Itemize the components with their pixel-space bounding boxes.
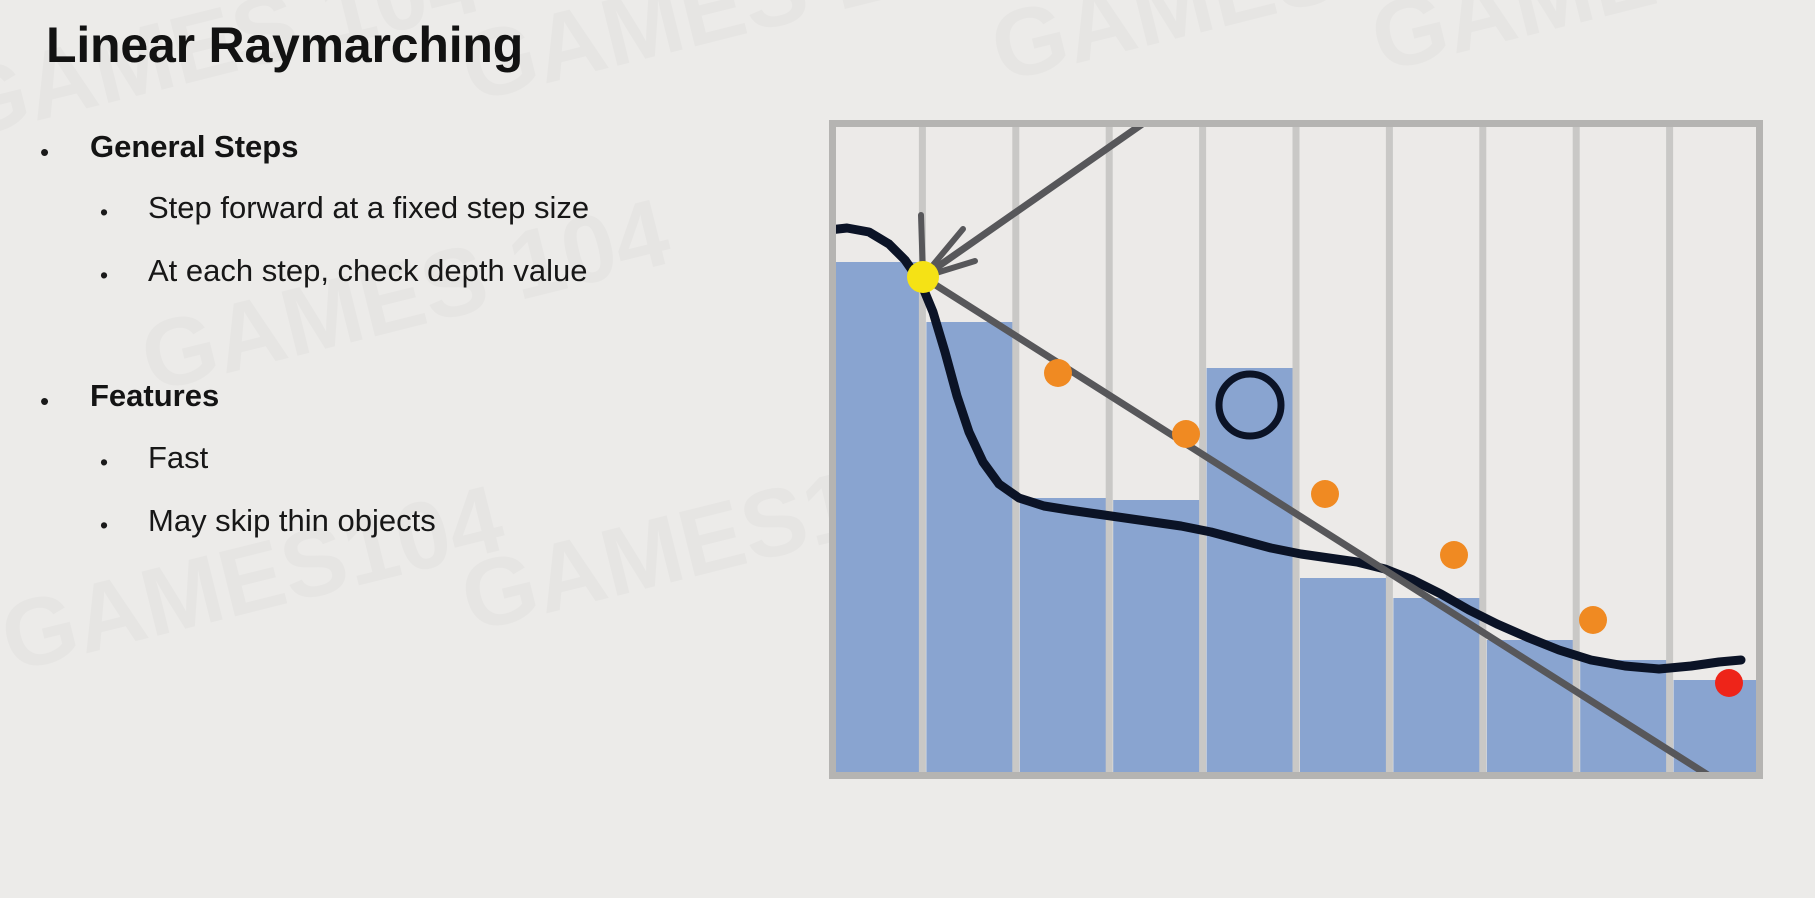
- bullet-marker-icon: •: [40, 130, 90, 165]
- bullet-marker-icon: •: [40, 379, 90, 414]
- step-sample-dot: [1579, 606, 1607, 634]
- bullet-label: Fast: [148, 441, 208, 475]
- bullet-item-check-depth: • At each step, check depth value: [40, 254, 830, 288]
- depth-bar: [1580, 660, 1666, 773]
- ray-hit-dot: [1715, 669, 1743, 697]
- bullet-item-step-forward: • Step forward at a fixed step size: [40, 191, 830, 225]
- raymarching-diagram: [829, 120, 1763, 779]
- step-sample-dot: [1044, 359, 1072, 387]
- page-title: Linear Raymarching: [46, 16, 523, 75]
- depth-bar: [926, 322, 1012, 773]
- bullet-item-general-steps: • General Steps: [40, 130, 770, 165]
- bullet-item-features: • Features: [40, 379, 770, 414]
- bullet-item-fast: • Fast: [40, 441, 830, 475]
- bullet-label: May skip thin objects: [148, 504, 436, 538]
- depth-bar: [1207, 368, 1293, 773]
- depth-bar: [1113, 500, 1199, 773]
- bullet-label: Features: [90, 379, 219, 413]
- step-sample-dot: [1172, 420, 1200, 448]
- bullet-label: General Steps: [90, 130, 298, 164]
- bullet-label: Step forward at a fixed step size: [148, 191, 589, 225]
- diagram-canvas: [829, 120, 1763, 779]
- ray-origin-dot: [907, 261, 939, 293]
- bullet-marker-icon: •: [100, 504, 148, 537]
- bullet-marker-icon: •: [100, 254, 148, 287]
- step-sample-dot: [1440, 541, 1468, 569]
- depth-bar: [833, 262, 919, 773]
- bullet-label: At each step, check depth value: [148, 254, 587, 288]
- slide-root: Linear Raymarching • General Steps • Ste…: [0, 0, 1815, 898]
- bullet-marker-icon: •: [100, 191, 148, 224]
- bullet-item-may-skip-thin-objects: • May skip thin objects: [40, 504, 830, 538]
- depth-bar: [1020, 498, 1106, 773]
- depth-bar: [1300, 578, 1386, 773]
- step-sample-dot: [1311, 480, 1339, 508]
- bullet-marker-icon: •: [100, 441, 148, 474]
